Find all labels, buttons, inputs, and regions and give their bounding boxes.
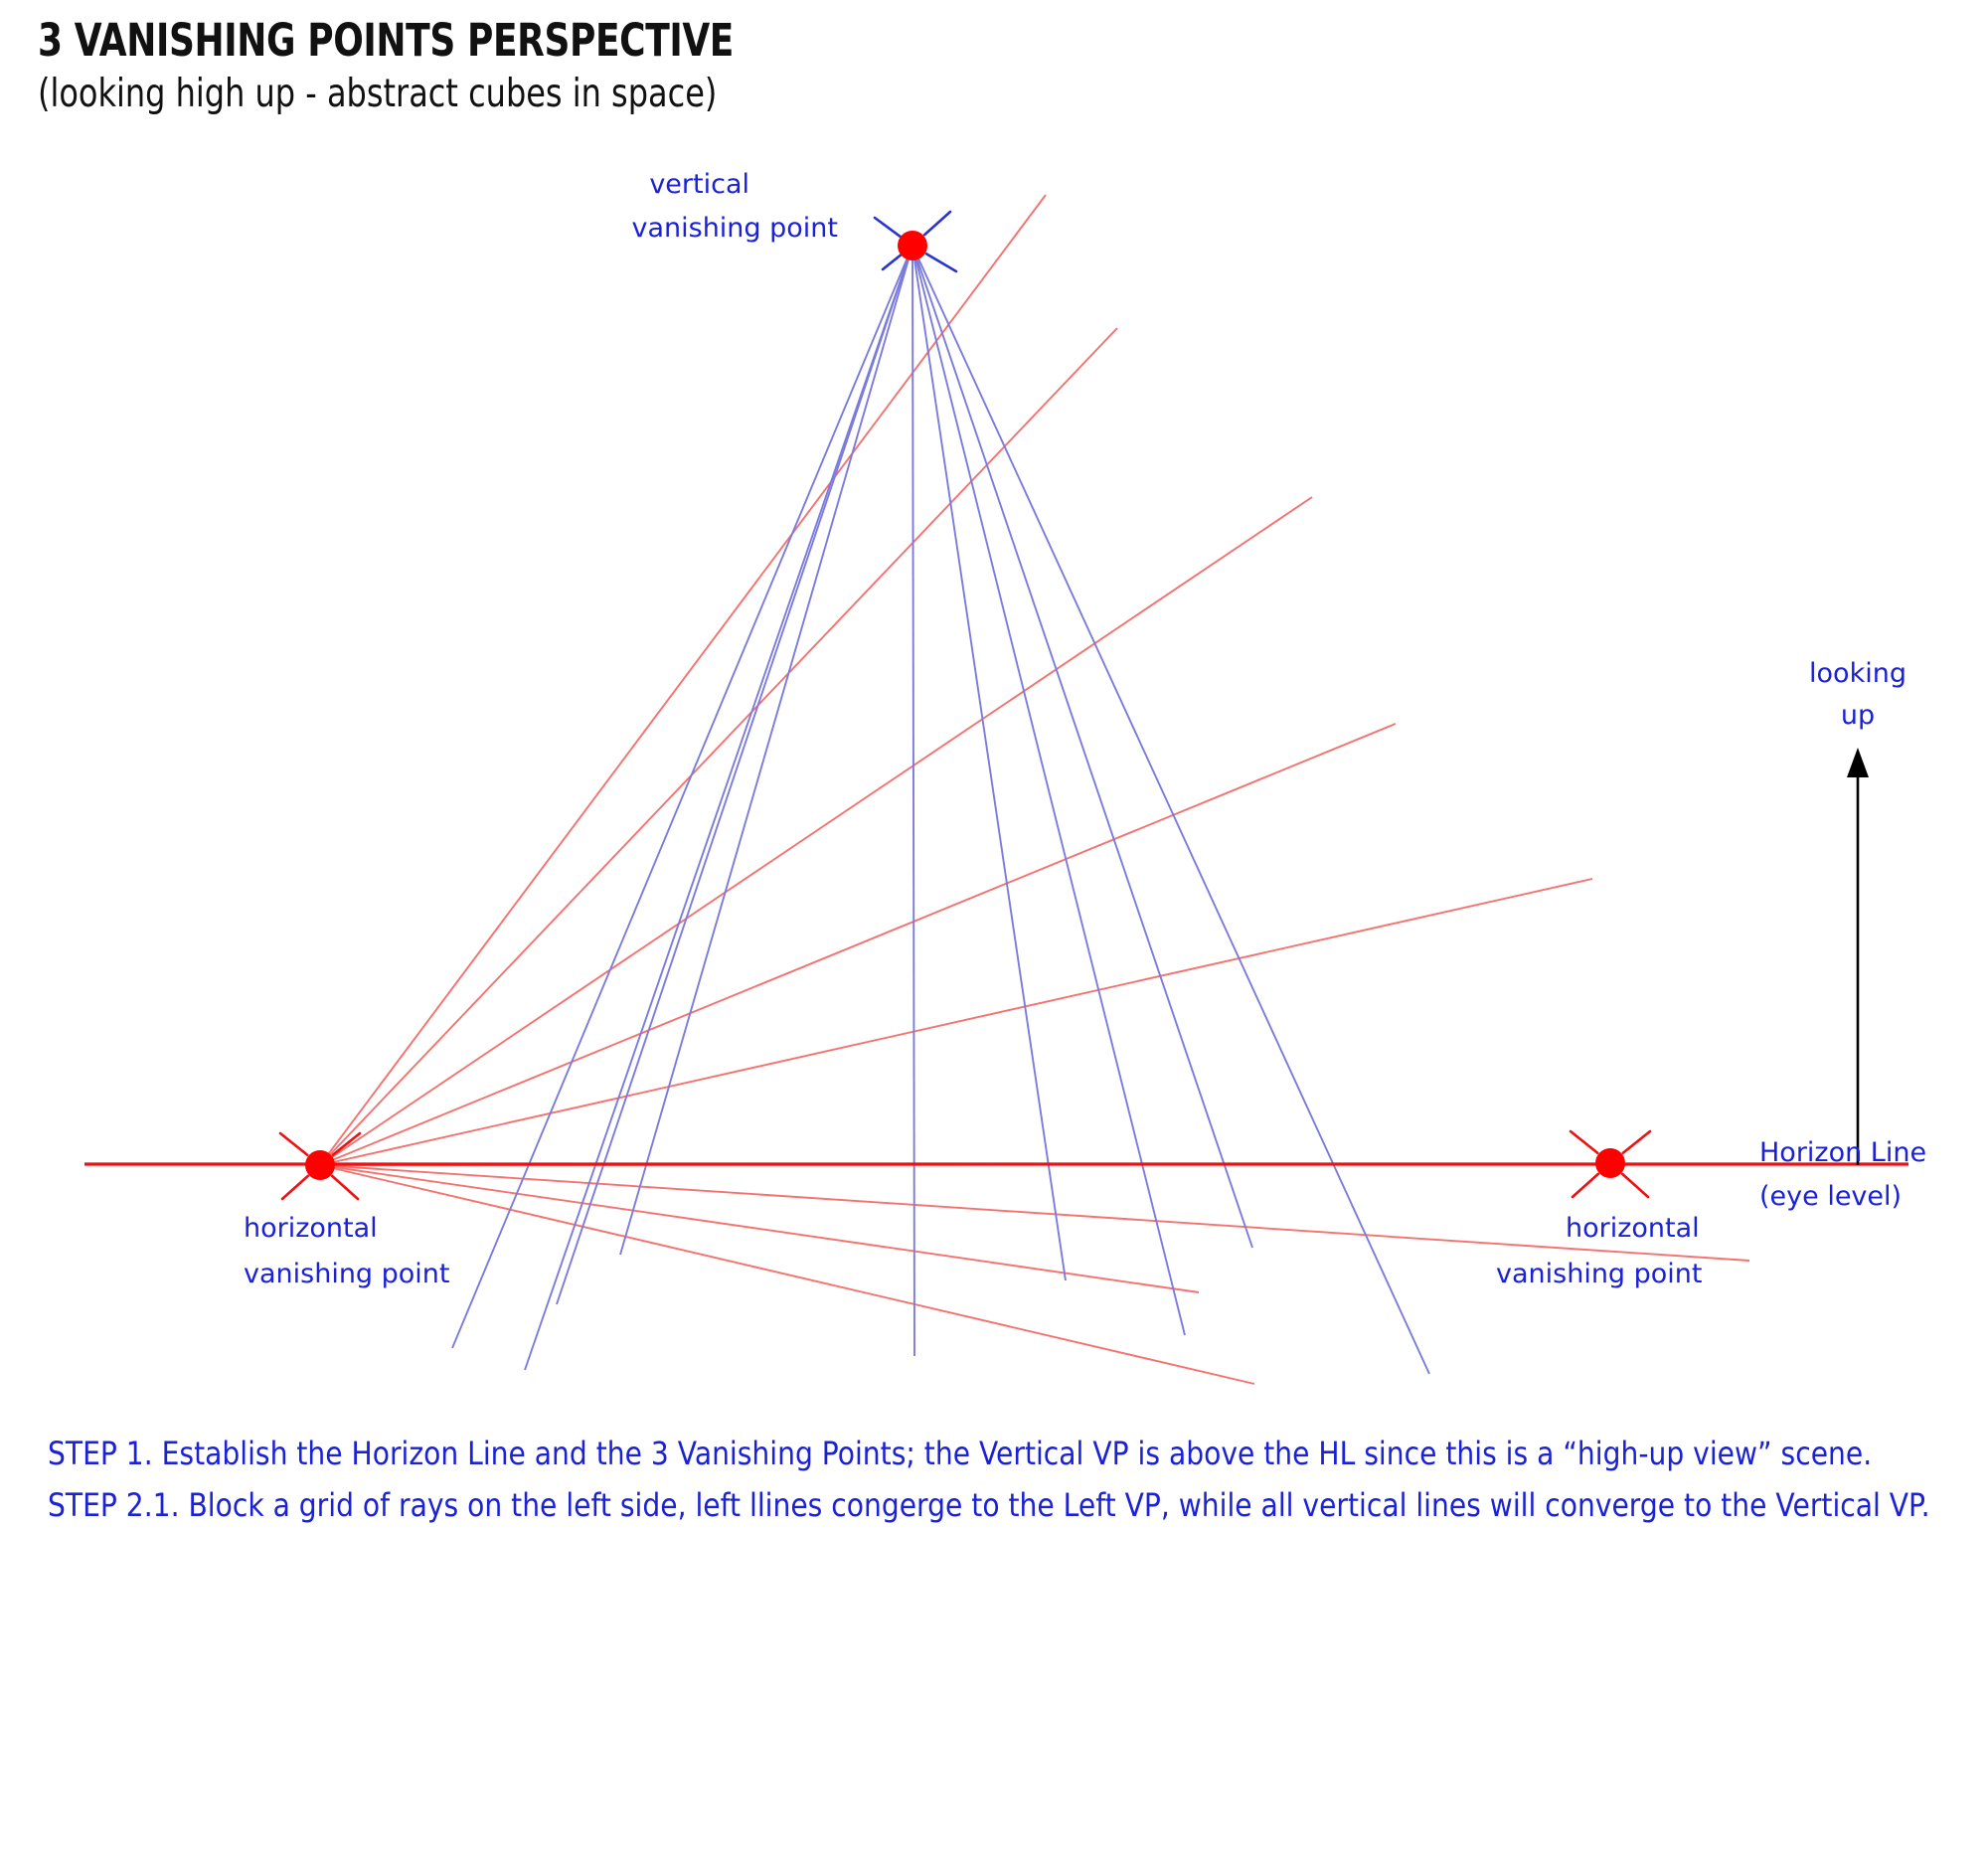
right-horizontal-vp-cross-arm-3 (1623, 1131, 1650, 1153)
looking-up-label-line1: looking (1809, 658, 1906, 689)
right-vp-label-line2: vanishing point (1496, 1259, 1703, 1289)
left-vp-ray-2 (320, 328, 1117, 1165)
left-horizontal-vp-cross-arm-2 (282, 1176, 308, 1199)
vertical-vp-cross-arm-4 (926, 254, 956, 271)
left-vp-label-line2: vanishing point (244, 1259, 450, 1289)
looking-up-label-line2: up (1841, 700, 1875, 731)
vertical-vp-label-line1: vertical (649, 169, 749, 200)
vertical-vp-ray-4 (620, 246, 912, 1255)
vertical-vp-ray-3 (557, 246, 912, 1304)
vertical-vp-ray-8 (912, 246, 1252, 1248)
right-horizontal-vp-cross-arm-4 (1622, 1174, 1648, 1197)
right-horizontal-vp-cross-arm-2 (1573, 1174, 1598, 1197)
left-vp-ray-8 (320, 1165, 1199, 1292)
perspective-construction: vertical vanishing point horizontal vani… (0, 0, 1988, 1869)
vertical-vp-cross-arm-1 (875, 218, 901, 237)
vertical-vp-ray-9 (912, 246, 1429, 1374)
step-2-text: STEP 2.1. Block a grid of rays on the le… (48, 1486, 1930, 1524)
left-vp-ray-7 (320, 1165, 1749, 1261)
diagram-canvas: 3 VANISHING POINTS PERSPECTIVE (looking … (0, 0, 1988, 1869)
right-horizontal-vp-dot (1595, 1148, 1625, 1178)
vertical-vp-dot (898, 231, 927, 260)
arrow-head-icon (1847, 748, 1869, 777)
vertical-vp-ray-5 (912, 246, 914, 1356)
left-vp-ray-3 (320, 497, 1312, 1165)
right-horizontal-vp-cross-arm-1 (1571, 1131, 1597, 1153)
left-vp-ray-9 (320, 1165, 1254, 1384)
left-horizontal-vp-dot (305, 1150, 335, 1180)
vertical-vp-label-line2: vanishing point (631, 213, 838, 244)
left-horizontal-vp-cross-arm-1 (280, 1133, 307, 1155)
vertical-vp-ray-1 (452, 246, 912, 1348)
right-vp-label-line1: horizontal (1566, 1213, 1700, 1244)
step-1-text: STEP 1. Establish the Horizon Line and t… (48, 1435, 1872, 1472)
vertical-vp-cross-arm-2 (883, 254, 903, 269)
left-vp-ray-group (320, 195, 1906, 1384)
left-horizontal-vp-cross-arm-4 (332, 1176, 358, 1199)
horizon-label-line1: Horizon Line (1759, 1137, 1926, 1168)
looking-up-arrow (1847, 748, 1869, 1165)
horizon-label-line2: (eye level) (1759, 1181, 1902, 1212)
left-vp-label-line1: horizontal (244, 1213, 378, 1244)
left-vp-ray-5 (320, 879, 1592, 1165)
vertical-vp-cross-arm-3 (924, 212, 950, 235)
left-vp-ray-4 (320, 724, 1396, 1165)
